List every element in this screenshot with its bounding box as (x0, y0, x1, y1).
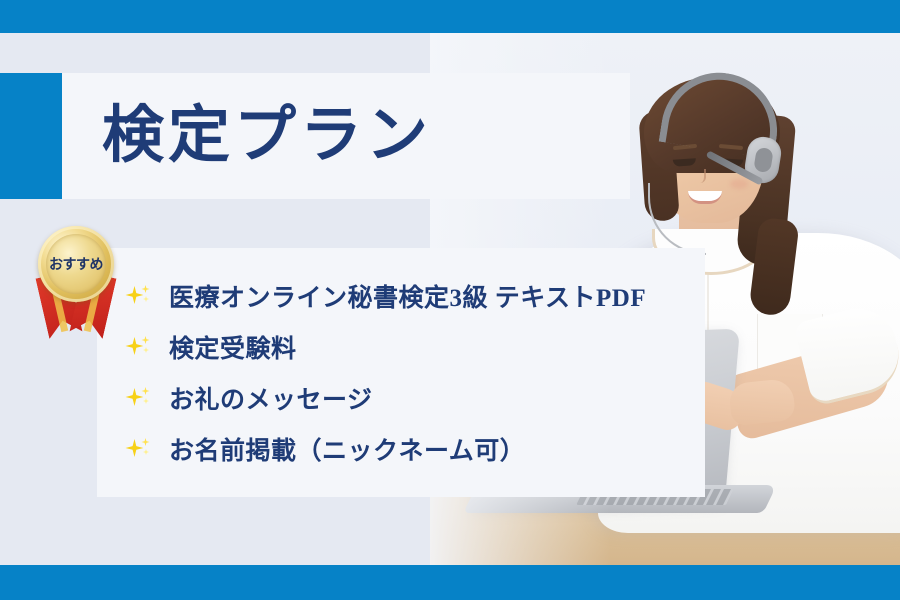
feature-list: 医療オンライン秘書検定3級 テキストPDF 検定受験料 (97, 248, 705, 497)
list-item: お礼のメッセージ (123, 380, 705, 416)
page-title: 検定プラン (102, 105, 432, 167)
list-item-label: 医療オンライン秘書検定3級 テキストPDF (169, 278, 646, 314)
top-accent-bar (0, 0, 900, 33)
list-item: 検定受験料 (123, 329, 705, 365)
title-accent-block (0, 73, 62, 199)
sparkle-icon (123, 332, 153, 362)
hand-right (728, 378, 796, 426)
recommended-badge: おすすめ (28, 222, 124, 340)
sparkle-icon (123, 281, 153, 311)
list-item: 医療オンライン秘書検定3級 テキストPDF (123, 278, 705, 314)
sparkle-icon (123, 434, 153, 464)
badge-label: おすすめ (49, 254, 103, 274)
promo-banner: 検定プラン 医療オンライン秘書検定3級 テキストPDF (0, 0, 900, 600)
sparkle-icon (123, 383, 153, 413)
list-item: お名前掲載（ニックネーム可） (123, 431, 705, 467)
medal-inner: おすすめ (46, 234, 106, 294)
gold-medal-icon: おすすめ (38, 226, 114, 302)
features-panel: 医療オンライン秘書検定3級 テキストPDF 検定受験料 (97, 248, 705, 497)
list-item-label: お名前掲載（ニックネーム可） (169, 431, 525, 467)
bottom-accent-bar (0, 565, 900, 600)
list-item-label: 検定受験料 (169, 329, 297, 365)
title-panel: 検定プラン (62, 73, 630, 199)
cheek-blush (730, 179, 748, 189)
list-item-label: お礼のメッセージ (169, 380, 373, 416)
